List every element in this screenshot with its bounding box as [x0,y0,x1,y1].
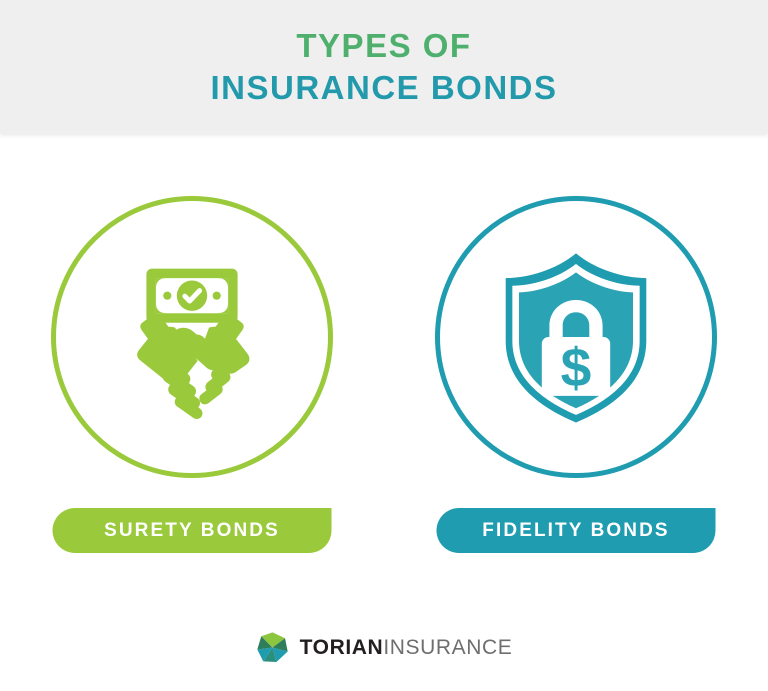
header-band: TYPES OF INSURANCE BONDS [0,0,768,134]
torian-insurance-logo[interactable]: TORIANINSURANCE [256,631,513,664]
logo-wordmark: TORIANINSURANCE [300,637,513,658]
logo-brand: TORIAN [300,636,384,659]
footer: TORIANINSURANCE [0,604,768,691]
pill-label-surety: SURETY BONDS [104,520,280,542]
pill-surety-bonds[interactable]: SURETY BONDS [53,508,332,553]
pill-label-fidelity: FIDELITY BONDS [482,520,669,542]
page-title-line-1: TYPES OF [296,26,471,66]
shield-lock-dollar-icon: $ [481,242,671,432]
card-surety-bonds[interactable]: SURETY BONDS [0,134,384,604]
card-fidelity-bonds[interactable]: $ FIDELITY BONDS [384,134,768,604]
icon-circle-fidelity: $ [435,196,717,478]
logo-suffix: INSURANCE [383,636,512,659]
pill-fidelity-bonds[interactable]: FIDELITY BONDS [437,508,716,553]
bond-type-cards: SURETY BONDS $ [0,134,768,604]
icon-circle-surety [51,196,333,478]
pinwheel-logo-icon [256,631,289,664]
handshake-money-icon [97,242,287,432]
svg-text:$: $ [561,336,592,398]
page-title-line-2: INSURANCE BONDS [210,68,557,108]
